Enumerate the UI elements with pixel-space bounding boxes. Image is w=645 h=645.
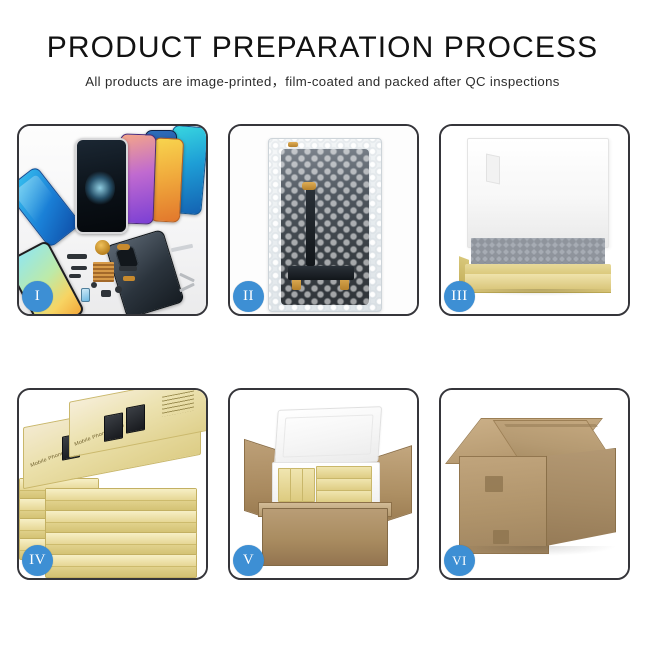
part-camera-module bbox=[115, 286, 122, 293]
carton-seam-line bbox=[504, 424, 598, 427]
inner-yellow-box-3 bbox=[302, 468, 315, 502]
connector-top bbox=[288, 142, 298, 147]
page-title: PRODUCT PREPARATION PROCESS bbox=[0, 30, 645, 66]
stacked-box-front-1 bbox=[45, 488, 197, 512]
process-step-panel-3[interactable]: III bbox=[439, 124, 630, 316]
part-mini-screen bbox=[81, 288, 90, 302]
part-battery-strip bbox=[67, 254, 87, 259]
carton-tape-patch-top bbox=[485, 476, 503, 492]
box-text-lines-front bbox=[162, 391, 194, 417]
tray-shadow bbox=[463, 289, 615, 296]
sealed-carton-side-face bbox=[546, 448, 616, 546]
part-gold-coil bbox=[95, 240, 110, 255]
step-badge-6: VI bbox=[444, 545, 475, 576]
part-logic-board bbox=[93, 262, 114, 282]
process-step-panel-5[interactable]: V bbox=[228, 388, 419, 580]
carton-tape-patch-bottom bbox=[493, 530, 509, 544]
phone-black-display bbox=[75, 138, 128, 234]
white-box-lid bbox=[467, 138, 609, 248]
page-header: PRODUCT PREPARATION PROCESS All products… bbox=[0, 0, 645, 92]
stacked-box-front-2 bbox=[45, 510, 197, 534]
step-badge-3: III bbox=[444, 281, 475, 312]
flex-cable-strip bbox=[306, 188, 315, 266]
box-artwork-chip-front-2 bbox=[126, 404, 145, 434]
carton-body bbox=[262, 508, 388, 566]
part-connector-right bbox=[123, 276, 135, 281]
part-flex-cable-left-2 bbox=[69, 274, 81, 278]
page-subtitle: All products are image-printed，film-coat… bbox=[0, 72, 645, 92]
step-badge-5: V bbox=[233, 545, 264, 576]
process-step-panel-6[interactable]: VI bbox=[439, 388, 630, 580]
part-copper-bracket bbox=[117, 244, 130, 250]
part-flex-cable-left bbox=[71, 266, 87, 270]
stacked-box-front-3 bbox=[45, 532, 197, 556]
box-artwork-chip-front-1 bbox=[104, 412, 123, 442]
process-step-panel-2[interactable]: II bbox=[228, 124, 419, 316]
connector-mid bbox=[302, 182, 316, 190]
part-vibrator-motor bbox=[91, 282, 97, 288]
step-badge-1: I bbox=[22, 281, 53, 312]
step-badge-2: II bbox=[233, 281, 264, 312]
process-step-grid: I II III bbox=[17, 124, 629, 580]
lid-side-flap bbox=[486, 154, 500, 185]
carton-shadow bbox=[457, 546, 617, 556]
board-bottom bbox=[288, 266, 354, 280]
part-flex-cable-right bbox=[119, 266, 137, 271]
part-speaker-module bbox=[101, 290, 111, 297]
stacked-box-front-4 bbox=[45, 554, 197, 578]
bubble-wrap-bag bbox=[268, 138, 382, 312]
process-step-panel-4[interactable]: Mobile Phone Spare Parts Mobile Phone Sp… bbox=[17, 388, 208, 580]
foam-box-lid bbox=[274, 406, 382, 466]
process-step-panel-1[interactable]: I bbox=[17, 124, 208, 316]
step-badge-4: IV bbox=[22, 545, 53, 576]
